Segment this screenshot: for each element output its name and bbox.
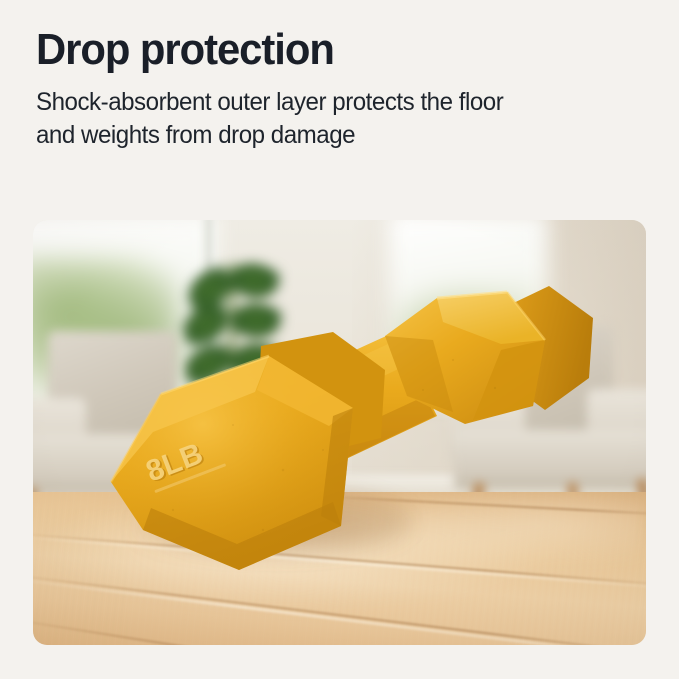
armchair-right	[450, 322, 646, 509]
room-scene: 8LB 8LB	[33, 220, 646, 645]
chair-seat	[454, 430, 646, 490]
page-title: Drop protection	[36, 24, 617, 76]
product-photo-card: 8LB 8LB	[33, 220, 646, 645]
wood-floor	[33, 492, 646, 645]
armchair-left	[33, 331, 211, 510]
feature-text-block: Drop protection Shock-absorbent outer la…	[36, 24, 648, 152]
page-subtitle: Shock-absorbent outer layer protects the…	[36, 86, 627, 152]
chair-seat	[33, 434, 202, 495]
plant-leaf	[225, 255, 283, 306]
plant-leaf	[228, 297, 284, 344]
plant-leaf	[229, 337, 284, 383]
plant-leaf	[227, 378, 280, 421]
product-feature-page: Drop protection Shock-absorbent outer la…	[0, 0, 679, 679]
